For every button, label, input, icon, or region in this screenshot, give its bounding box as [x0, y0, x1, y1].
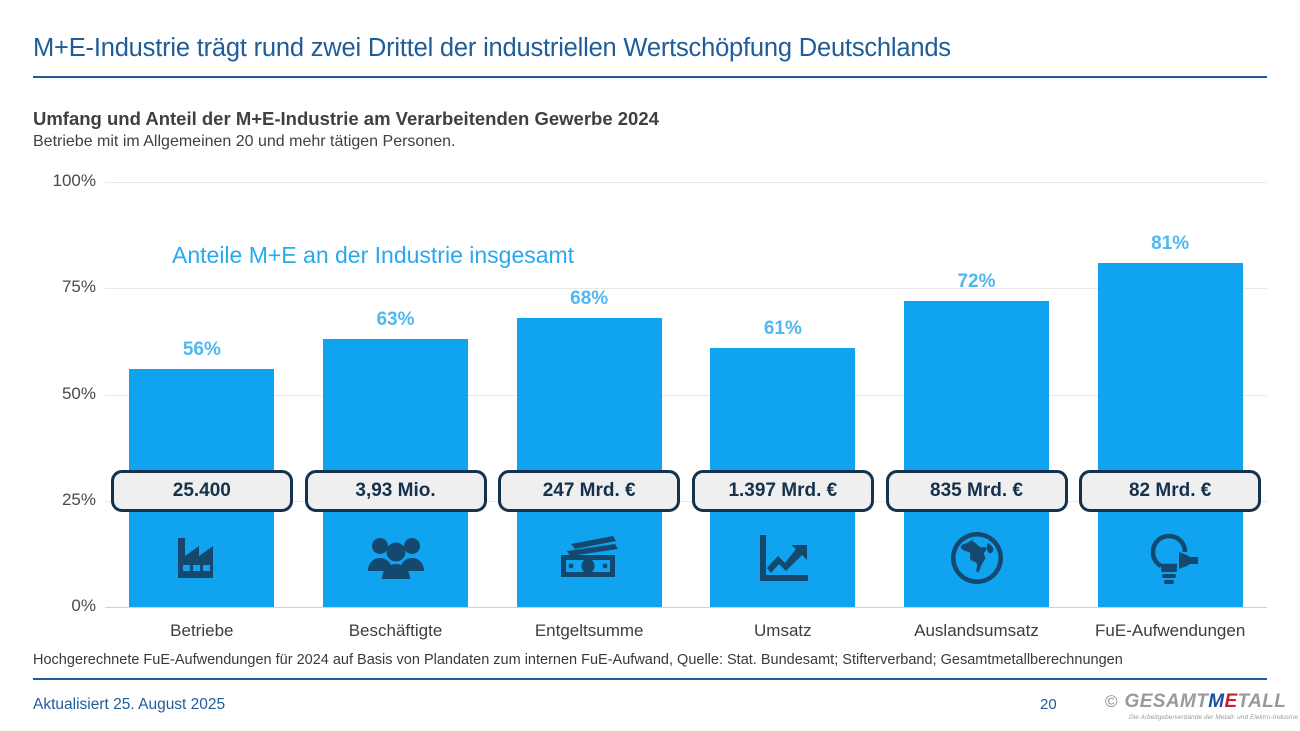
- bar-value-label: 63%: [336, 309, 456, 331]
- banknotes-icon: [549, 527, 629, 589]
- chart-footnote: Hochgerechnete FuE-Aufwendungen für 2024…: [33, 652, 1123, 668]
- bar-chart: 0%25%50%75%100% Anteile M+E an der Indus…: [0, 0, 1300, 731]
- y-axis-tick-label: 0%: [16, 596, 96, 616]
- chart-annotation: Anteile M+E an der Industrie insgesamt: [172, 242, 574, 269]
- y-axis-tick-label: 100%: [16, 171, 96, 191]
- slide-root: M+E-Industrie trägt rund zwei Drittel de…: [0, 0, 1300, 731]
- bar-value-label: 68%: [529, 288, 649, 310]
- footer-divider: [33, 678, 1267, 680]
- gridline-0: [105, 607, 1267, 608]
- logo-part-m: M: [1208, 691, 1224, 712]
- lightbulb-plug-icon: [1130, 527, 1210, 589]
- logo-part-e: E: [1224, 691, 1237, 712]
- people-group-icon: [356, 527, 436, 589]
- x-axis-label-fue-aufwendungen: FuE-Aufwendungen: [1060, 621, 1280, 641]
- globe-icon: [937, 527, 1017, 589]
- y-axis-tick-label: 50%: [16, 384, 96, 404]
- x-axis-label-besch-ftigte: Beschäftigte: [286, 621, 506, 641]
- bar-absolute-value-badge: 835 Mrd. €: [886, 470, 1068, 512]
- gridline-50: [105, 395, 1267, 396]
- copyright-icon: ©: [1105, 693, 1118, 710]
- bar-absolute-value-badge: 247 Mrd. €: [498, 470, 680, 512]
- x-axis-label-betriebe: Betriebe: [92, 621, 312, 641]
- page-number: 20: [1040, 696, 1057, 713]
- updated-date: Aktualisiert 25. August 2025: [33, 696, 225, 714]
- x-axis-label-auslandsumsatz: Auslandsumsatz: [867, 621, 1087, 641]
- bar-value-label: 72%: [917, 271, 1037, 293]
- bar-value-label: 56%: [142, 339, 262, 361]
- bar-value-label: 61%: [723, 318, 843, 340]
- gridline-100: [105, 182, 1267, 183]
- growth-chart-icon: [743, 527, 823, 589]
- bar-value-label: 81%: [1110, 233, 1230, 255]
- x-axis-label-umsatz: Umsatz: [673, 621, 893, 641]
- gesamtmetall-logo: © GESAMTMETALL Die Arbeitgeberverbände d…: [1105, 692, 1275, 721]
- gridline-75: [105, 288, 1267, 289]
- y-axis-tick-label: 25%: [16, 490, 96, 510]
- bar-absolute-value-badge: 82 Mrd. €: [1079, 470, 1261, 512]
- y-axis-tick-label: 75%: [16, 277, 96, 297]
- bar-absolute-value-badge: 3,93 Mio.: [305, 470, 487, 512]
- x-axis-label-entgeltsumme: Entgeltsumme: [479, 621, 699, 641]
- logo-part-1: GESAMT: [1125, 691, 1209, 712]
- factory-icon: [162, 527, 242, 589]
- bar-absolute-value-badge: 1.397 Mrd. €: [692, 470, 874, 512]
- logo-part-2: TALL: [1238, 691, 1287, 712]
- logo-tagline: Die Arbeitgeberverbände der Metall- und …: [1129, 714, 1275, 721]
- bar-absolute-value-badge: 25.400: [111, 470, 293, 512]
